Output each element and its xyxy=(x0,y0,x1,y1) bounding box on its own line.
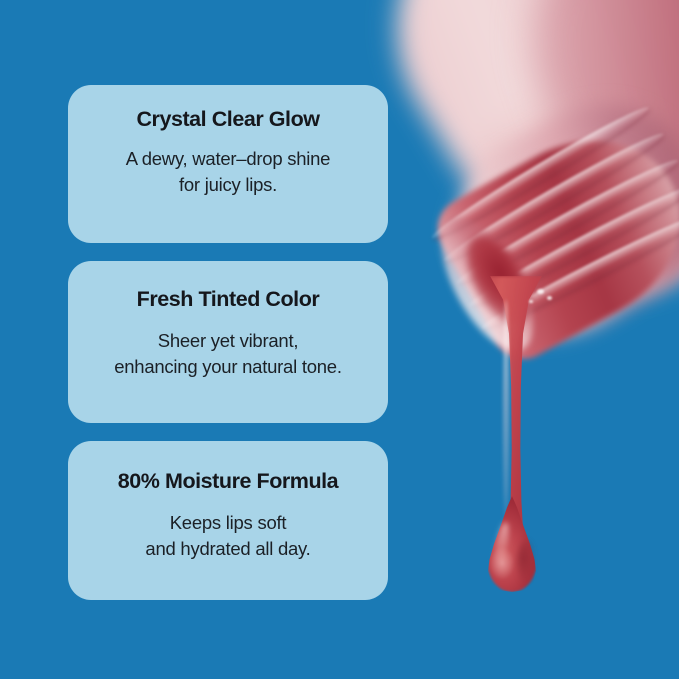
feature-card-moisture-formula: 80% Moisture Formula Keeps lips soft and… xyxy=(68,441,388,600)
gloss-fleck xyxy=(529,300,533,303)
drip-strand-highlight xyxy=(503,300,509,536)
feature-card-fresh-tinted-color: Fresh Tinted Color Sheer yet vibrant, en… xyxy=(68,261,388,423)
feature-card-list: Crystal Clear Glow A dewy, water–drop sh… xyxy=(68,85,388,600)
description-line: Keeps lips soft xyxy=(86,510,370,536)
description-line: A dewy, water–drop shine xyxy=(86,146,370,172)
feature-card-title: Fresh Tinted Color xyxy=(86,287,370,312)
description-line: for juicy lips. xyxy=(86,172,370,198)
product-feature-graphic: Crystal Clear Glow A dewy, water–drop sh… xyxy=(0,0,679,679)
feature-card-crystal-clear-glow: Crystal Clear Glow A dewy, water–drop sh… xyxy=(68,85,388,243)
description-line: Sheer yet vibrant, xyxy=(86,328,370,354)
gloss-fleck xyxy=(537,289,544,294)
feature-card-title: 80% Moisture Formula xyxy=(86,469,370,494)
teardrop-shadow xyxy=(517,540,535,584)
feature-card-title: Crystal Clear Glow xyxy=(86,107,370,132)
description-line: enhancing your natural tone. xyxy=(86,354,370,380)
gloss-fleck xyxy=(547,296,552,300)
description-line: and hydrated all day. xyxy=(86,536,370,562)
feature-card-description: Keeps lips soft and hydrated all day. xyxy=(86,510,370,563)
feature-card-description: Sheer yet vibrant, enhancing your natura… xyxy=(86,328,370,381)
feature-card-description: A dewy, water–drop shine for juicy lips. xyxy=(86,146,370,199)
